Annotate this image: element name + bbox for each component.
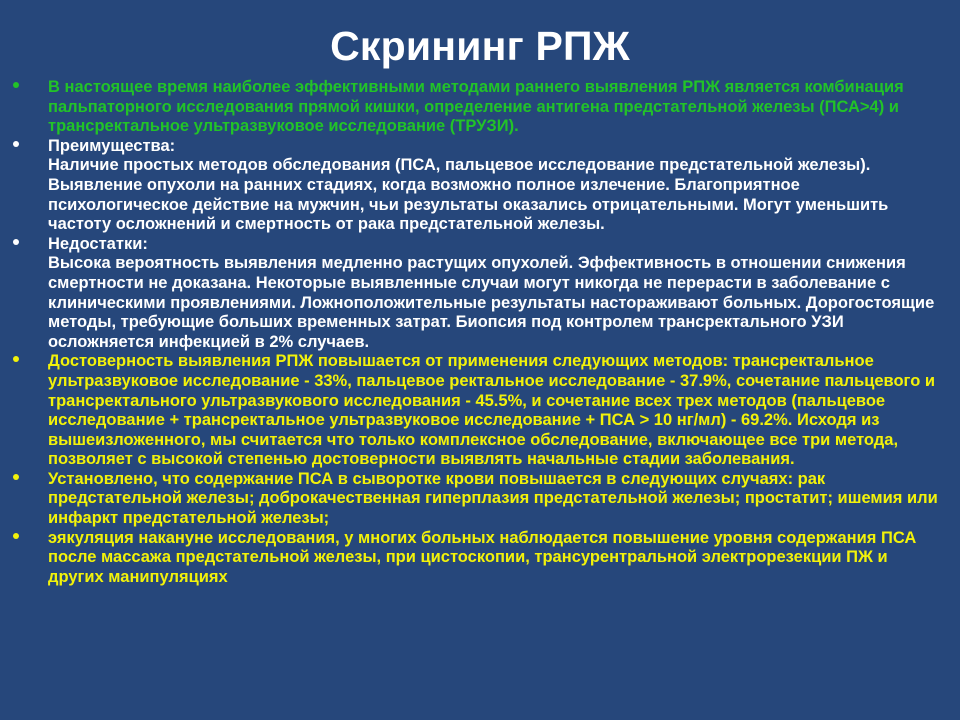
list-item-text: эякуляция накануне исследования, у многи…: [48, 529, 938, 588]
bullet-marker-icon: [13, 474, 19, 480]
bullet-marker-icon: [13, 141, 19, 147]
list-item-text: В настоящее время наиболее эффективными …: [48, 78, 938, 137]
list-item-text: Наличие простых методов обследования (ПС…: [48, 156, 938, 234]
list-item-heading: Преимущества:: [48, 137, 938, 157]
list-item-text: Достоверность выявления РПЖ повышается о…: [48, 352, 938, 470]
list-item: Недостатки: Высока вероятность выявления…: [0, 235, 960, 353]
list-item: В настоящее время наиболее эффективными …: [0, 78, 960, 137]
bullet-marker-icon: [13, 356, 19, 362]
list-item: эякуляция накануне исследования, у многи…: [0, 529, 960, 588]
list-item-text: Высока вероятность выявления медленно ра…: [48, 254, 938, 352]
bullet-marker-icon: [13, 239, 19, 245]
list-item: Преимущества: Наличие простых методов об…: [0, 137, 960, 235]
bullet-marker-icon: [13, 82, 19, 88]
list-item-heading: Недостатки:: [48, 235, 938, 255]
list-item: Достоверность выявления РПЖ повышается о…: [0, 352, 960, 470]
list-item: Установлено, что содержание ПСА в сыворо…: [0, 470, 960, 529]
presentation-slide: Скрининг РПЖ В настоящее время наиболее …: [0, 0, 960, 720]
bullet-marker-icon: [13, 533, 19, 539]
slide-body: В настоящее время наиболее эффективными …: [0, 78, 960, 587]
page-title: Скрининг РПЖ: [0, 22, 960, 70]
list-item-text: Установлено, что содержание ПСА в сыворо…: [48, 470, 938, 529]
